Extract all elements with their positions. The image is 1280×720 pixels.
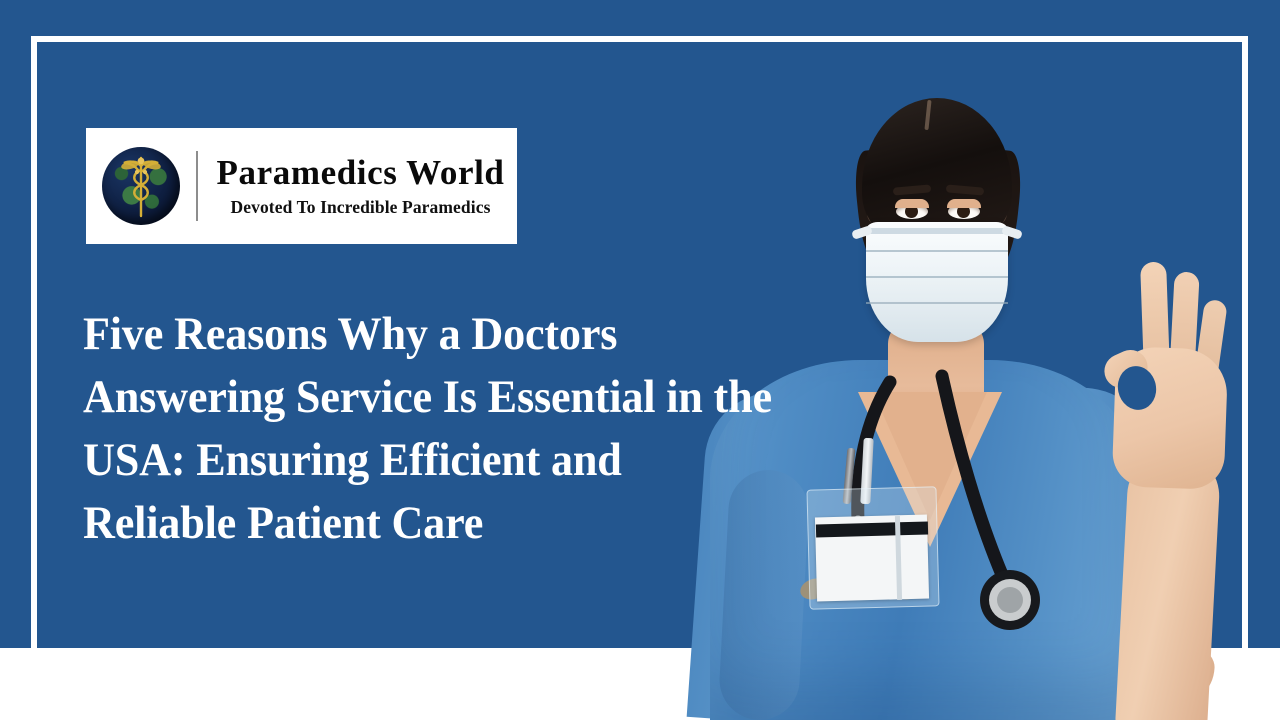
- banner-canvas: Paramedics World Devoted To Incredible P…: [0, 0, 1280, 720]
- brand-logo[interactable]: Paramedics World Devoted To Incredible P…: [86, 128, 517, 244]
- caduceus-glyph: [114, 154, 168, 218]
- page-title: Five Reasons Why a Doctors Answering Ser…: [83, 303, 779, 555]
- logo-wordmark: Paramedics World Devoted To Incredible P…: [212, 155, 509, 217]
- brand-tagline: Devoted To Incredible Paramedics: [212, 199, 509, 217]
- logo-divider: [196, 151, 198, 221]
- globe-caduceus-icon: [102, 147, 180, 225]
- brand-name: Paramedics World: [212, 155, 509, 190]
- raised-forearm: [1114, 448, 1221, 720]
